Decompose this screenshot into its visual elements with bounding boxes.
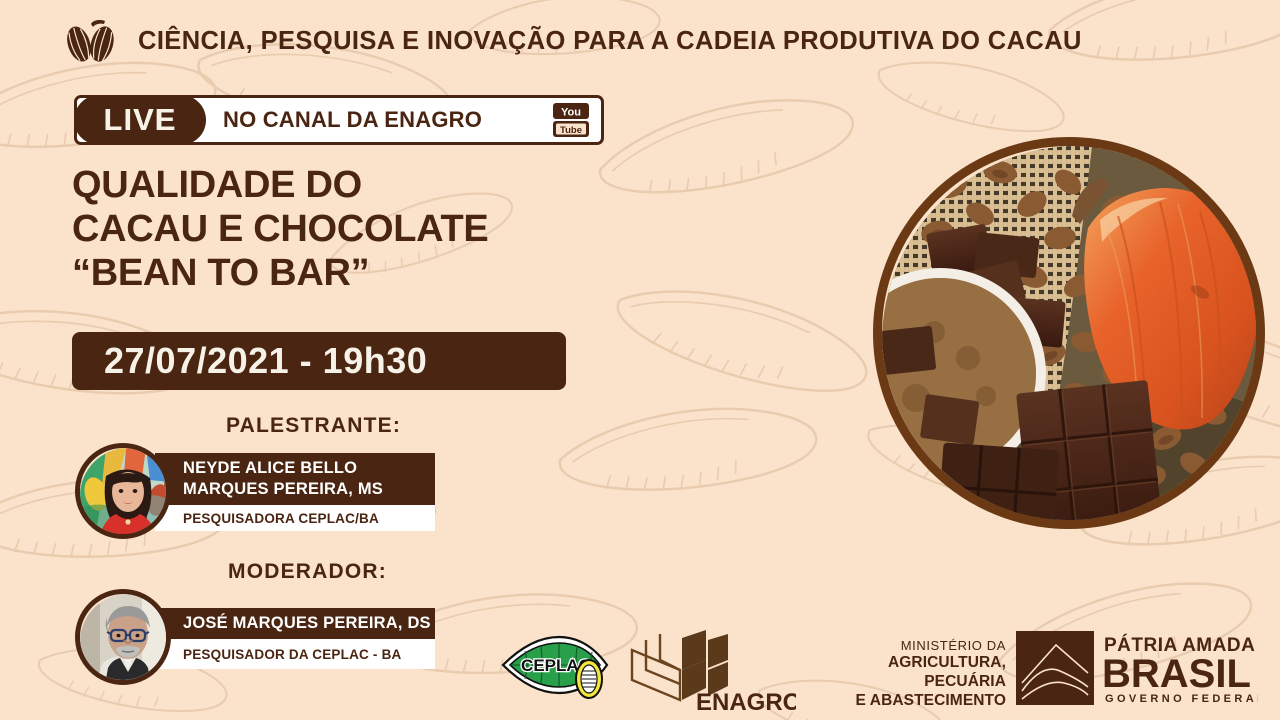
svg-text:ENAGRO: ENAGRO (696, 689, 796, 714)
page-title: QUALIDADE DO CACAU E CHOCOLATE “BEAN TO … (72, 163, 632, 295)
svg-text:BRASIL: BRASIL (1102, 652, 1251, 696)
ministry-line-1: MINISTÉRIO DA (806, 638, 1006, 654)
live-badge: LIVE (74, 95, 206, 145)
ministry-line-2: AGRICULTURA, PECUÁRIA (806, 654, 1006, 692)
svg-text:You: You (561, 107, 581, 119)
title-line-3: “BEAN TO BAR” (72, 251, 632, 295)
moderator-role-label: MODERADOR: (228, 560, 387, 584)
date-time-bar: 27/07/2021 - 19h30 (72, 332, 566, 390)
live-channel-text: NO CANAL DA ENAGRO (223, 107, 482, 133)
brasil-government-logo: PÁTRIA AMADA BRASIL GOVERNO FEDERAL (1016, 629, 1258, 707)
poster-canvas: CIÊNCIA, PESQUISA E INOVAÇÃO PARA A CADE… (0, 0, 1280, 720)
speaker-affiliation-bar: PESQUISADORA CEPLAC/BA (155, 505, 435, 531)
ceplac-leaf-logo: CEPLAC (497, 631, 615, 703)
speaker-name-line-2: MARQUES PEREIRA, MS (183, 479, 435, 500)
moderator-portrait-photo (80, 594, 171, 685)
svg-text:Tube: Tube (560, 125, 582, 136)
moderator-avatar (75, 589, 171, 685)
svg-text:GOVERNO FEDERAL: GOVERNO FEDERAL (1105, 693, 1258, 705)
enagro-logo: ENAGRO (624, 626, 796, 714)
youtube-icon[interactable]: You Tube (551, 102, 591, 138)
moderator-name: JOSÉ MARQUES PEREIRA, DS (183, 614, 435, 633)
speaker-avatar (75, 443, 171, 539)
moderator-name-bar: JOSÉ MARQUES PEREIRA, DS (155, 608, 435, 639)
hero-photo (873, 137, 1265, 529)
cacao-pod-beans-chocolate-photo (882, 146, 1265, 529)
headline-row: CIÊNCIA, PESQUISA E INOVAÇÃO PARA A CADE… (60, 18, 1220, 64)
speaker-name-line-1: NEYDE ALICE BELLO (183, 458, 435, 479)
ministry-text-block: MINISTÉRIO DA AGRICULTURA, PECUÁRIA E AB… (806, 638, 1006, 711)
speaker-name-bar: NEYDE ALICE BELLO MARQUES PEREIRA, MS (155, 453, 435, 505)
speaker-role-label: PALESTRANTE: (226, 414, 401, 438)
date-time-text: 27/07/2021 - 19h30 (104, 340, 427, 382)
live-channel-bar[interactable]: LIVE NO CANAL DA ENAGRO You Tube (74, 95, 604, 145)
moderator-affiliation-bar: PESQUISADOR DA CEPLAC - BA (155, 639, 435, 669)
ministry-line-3: E ABASTECIMENTO (806, 692, 1006, 711)
title-line-1: QUALIDADE DO (72, 163, 632, 207)
cacao-pods-icon (60, 18, 124, 64)
title-line-2: CACAU E CHOCOLATE (72, 207, 632, 251)
headline-text: CIÊNCIA, PESQUISA E INOVAÇÃO PARA A CADE… (138, 27, 1082, 56)
live-badge-label: LIVE (104, 102, 177, 138)
